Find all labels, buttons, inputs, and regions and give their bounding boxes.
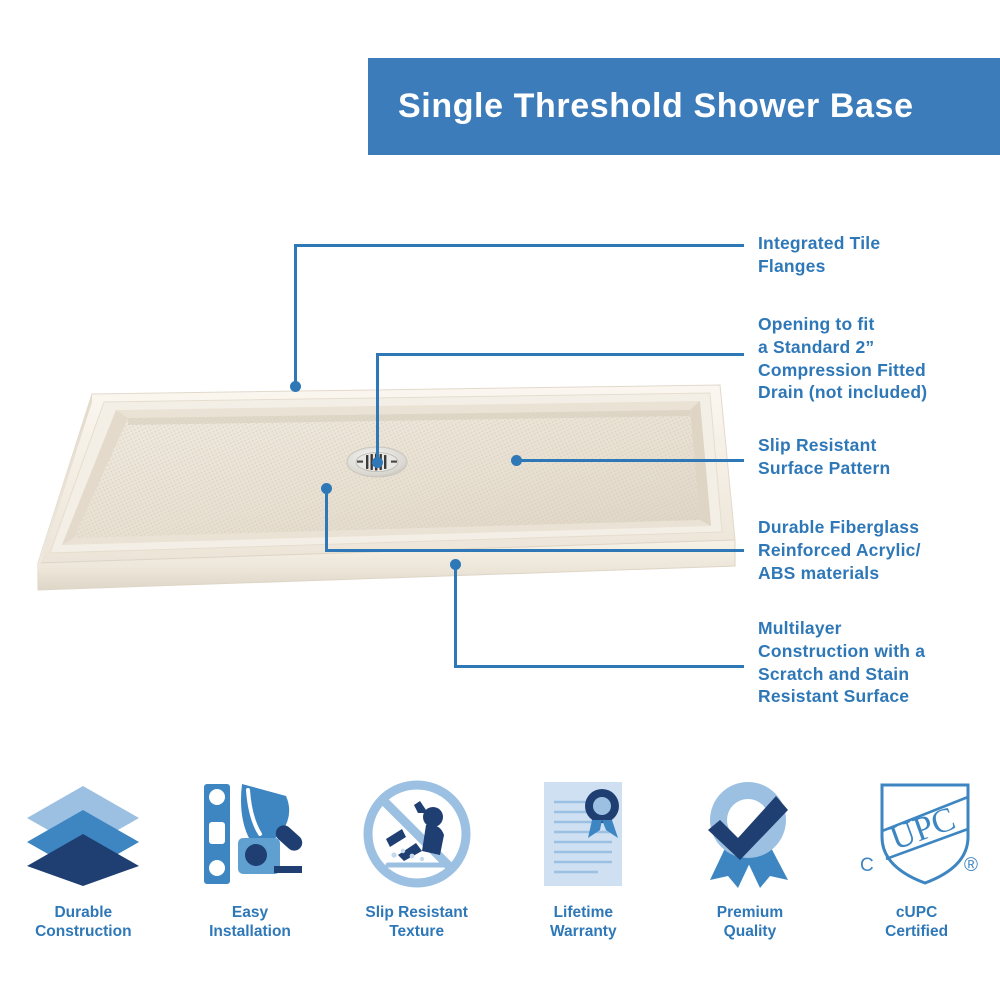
award-check-icon (694, 775, 806, 893)
shield-c-mark: C (860, 855, 874, 876)
tape-spool (245, 844, 267, 866)
cupc-shield-icon: UPC C ® (852, 775, 982, 893)
layers-icon (23, 775, 143, 893)
feature-durable-construction: Durable Construction (3, 775, 163, 942)
feature-label: Durable Construction (35, 903, 131, 942)
infographic-canvas: Single Threshold Shower Base (0, 0, 1000, 1000)
callout-slip-resistant-surface: Slip Resistant Surface Pattern (758, 434, 1000, 480)
shield-registered-mark: ® (964, 855, 978, 876)
certificate-icon (528, 775, 638, 893)
leader-line-tile-flanges (294, 244, 744, 247)
leader-riser-multilayer (454, 564, 457, 666)
leader-riser-materials (325, 488, 328, 550)
feature-cupc-certified: UPC C ® cUPC Certified (837, 775, 997, 942)
feature-label: Lifetime Warranty (550, 903, 617, 942)
trowel-level-icon (190, 775, 310, 893)
feature-badges-row: Durable Construction (0, 775, 1000, 985)
shower-base-illustration (0, 350, 760, 600)
drain-tick-right (391, 461, 397, 463)
leader-line-slip-surface (516, 459, 744, 462)
tape-blade (274, 866, 302, 873)
leader-riser-tile-flanges (294, 244, 297, 386)
level-screw-top (209, 789, 225, 805)
leader-riser-drain (376, 353, 379, 463)
leader-line-multilayer (454, 665, 744, 668)
callout-drain-opening: Opening to fit a Standard 2” Compression… (758, 313, 1000, 404)
feature-premium-quality: Premium Quality (670, 775, 830, 942)
feature-label: Easy Installation (209, 903, 291, 942)
level-vial (209, 822, 225, 844)
feature-label: Premium Quality (717, 903, 783, 942)
feature-easy-installation: Easy Installation (170, 775, 330, 942)
leader-line-materials (325, 549, 744, 552)
leader-line-drain (376, 353, 744, 356)
page-title: Single Threshold Shower Base (398, 87, 914, 126)
no-slip-icon (360, 775, 474, 893)
feature-lifetime-warranty: Lifetime Warranty (503, 775, 663, 942)
level-screw-bottom (209, 860, 225, 876)
callout-multilayer-construction: Multilayer Construction with a Scratch a… (758, 617, 1000, 708)
feature-slip-resistant-texture: Slip Resistant Texture (337, 775, 497, 942)
drain-tick-left (357, 461, 363, 463)
feature-label: Slip Resistant Texture (365, 903, 468, 942)
callout-integrated-tile-flanges: Integrated Tile Flanges (758, 232, 1000, 278)
callout-durable-materials: Durable Fiberglass Reinforced Acrylic/ A… (758, 516, 1000, 584)
feature-label: cUPC Certified (885, 903, 948, 942)
title-banner: Single Threshold Shower Base (368, 58, 1000, 155)
